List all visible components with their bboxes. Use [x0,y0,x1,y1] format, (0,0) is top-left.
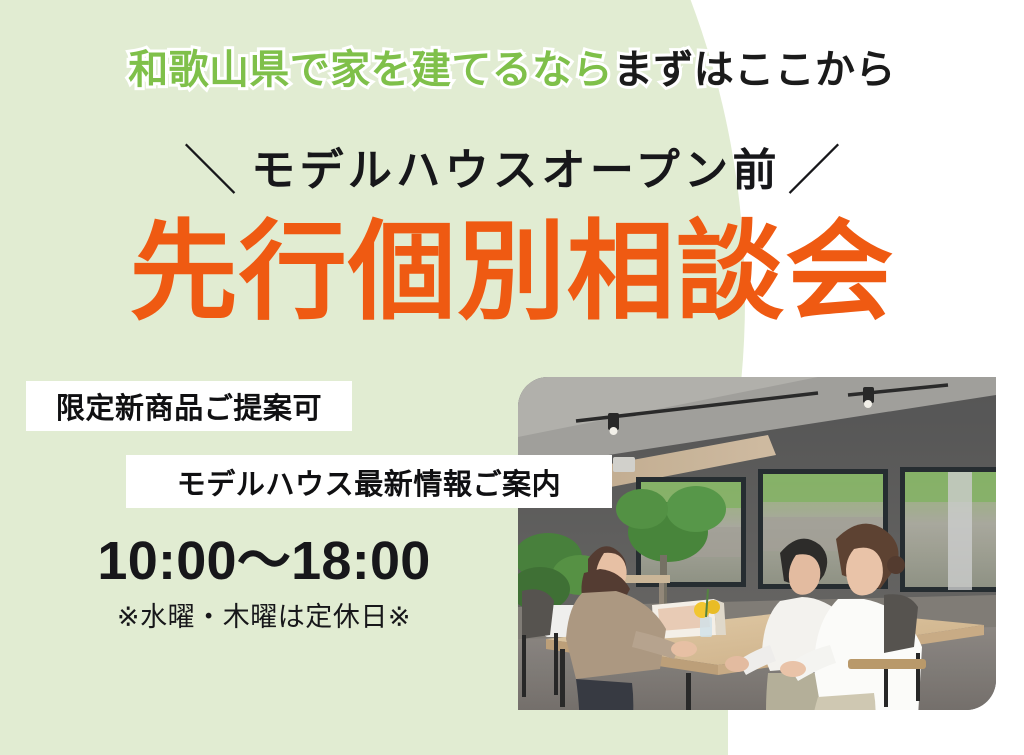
slash-left-decoration: ＼ [183,140,237,202]
kicker-dark-text: まずはここから [613,48,896,92]
closed-days-note: ※水曜・木曜は定休日※ [0,601,528,633]
page-title: 先行個別相談会 [0,212,1024,333]
callout-model-house-info: モデルハウス最新情報ご案内 [126,455,612,508]
kicker-line: 和歌山県で家を建てるならまずはここから [0,48,1024,92]
subline-text: モデルハウスオープン前 [251,146,781,195]
kicker-green-text: 和歌山県で家を建てるなら [128,48,613,92]
business-hours: 10:00〜18:00 [0,532,528,591]
poster-root: 和歌山県で家を建てるならまずはここから ＼モデルハウスオープン前／ 先行個別相談… [0,0,1024,755]
slash-right-decoration: ／ [787,140,841,202]
photo-illustration [518,377,996,710]
callout-limited-product: 限定新商品ご提案可 [26,381,352,431]
callout-limited-product-label: 限定新商品ご提案可 [56,385,322,427]
callout-model-house-info-label: モデルハウス最新情報ご案内 [177,461,562,503]
consultation-photo [518,377,996,710]
subline: ＼モデルハウスオープン前／ [0,140,1024,202]
